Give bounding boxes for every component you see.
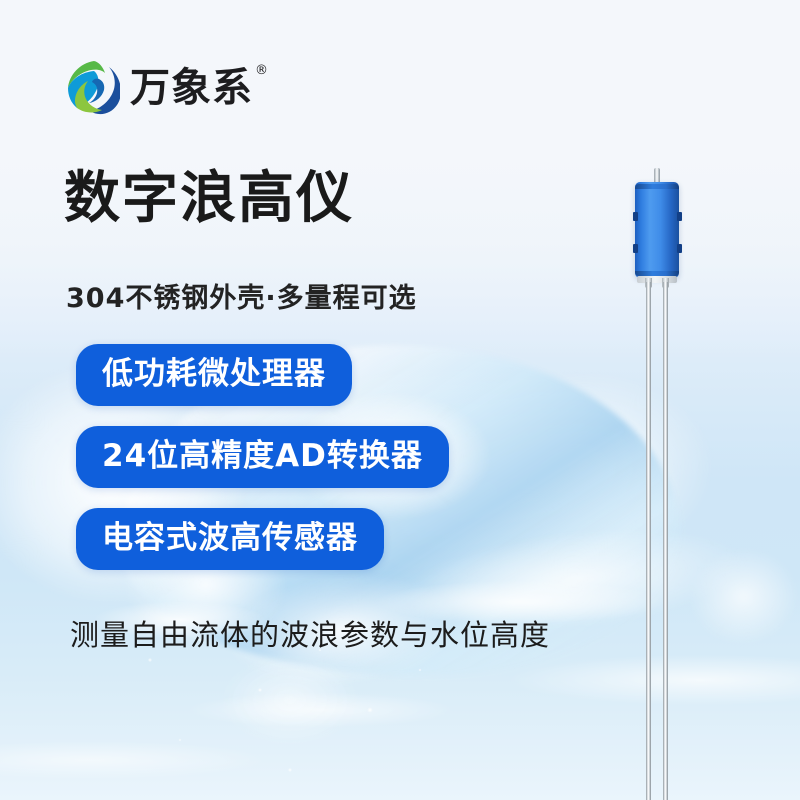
brand-logo: 万象系 ® [64,58,253,118]
feature-pill-1: 低功耗微处理器 [76,344,352,406]
product-image-wave-height-probe [612,168,702,800]
probe-clip-left-upper [633,212,638,221]
globe-swirl-logo-icon [64,58,120,118]
page-subtitle: 304不锈钢外壳·多量程可选 [66,276,417,315]
probe-rod-left [646,282,651,800]
feature-pill-2: 24位高精度AD转换器 [76,426,449,488]
registered-trademark-icon: ® [255,64,269,77]
probe-clip-right-lower [677,244,682,253]
product-poster: 万象系 ® 数字浪高仪 304不锈钢外壳·多量程可选 低功耗微处理器 24位高精… [0,0,800,800]
page-tagline: 测量自由流体的波浪参数与水位高度 [70,612,550,654]
probe-clip-right-upper [677,212,682,221]
brand-name-text: 万象系 [130,65,253,111]
probe-clip-left-lower [633,244,638,253]
probe-collar [637,276,677,283]
page-title: 数字浪高仪 [64,168,354,231]
probe-rod-right [663,282,668,800]
brand-wordmark: 万象系 ® [130,68,253,108]
feature-list: 低功耗微处理器 24位高精度AD转换器 电容式波高传感器 [76,344,449,570]
feature-pill-3: 电容式波高传感器 [76,508,384,570]
probe-housing [635,182,679,278]
